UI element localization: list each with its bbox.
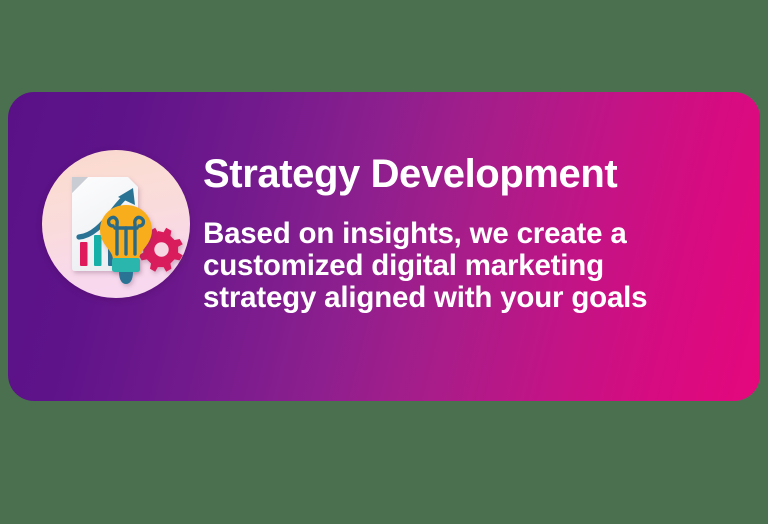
card-description-line-3: strategy aligned with your goals	[203, 282, 723, 314]
bar-1	[80, 242, 88, 266]
screenshot-stage: Strategy Development Based on insights, …	[0, 0, 768, 524]
page-title: Strategy Development	[203, 152, 723, 196]
bar-2	[94, 235, 102, 266]
lightbulb-icon	[100, 205, 152, 284]
card-description: Based on insights, we create a customize…	[203, 196, 723, 314]
card-description-line-1: Based on insights, we create a	[203, 218, 723, 250]
strategy-development-icon	[42, 150, 190, 298]
lightbulb-base	[112, 258, 140, 272]
card-text-block: Strategy Development Based on insights, …	[203, 152, 723, 314]
card-description-line-2: customized digital marketing	[203, 250, 723, 282]
strategy-development-card[interactable]: Strategy Development Based on insights, …	[8, 92, 760, 401]
lightbulb-tip	[119, 272, 133, 284]
